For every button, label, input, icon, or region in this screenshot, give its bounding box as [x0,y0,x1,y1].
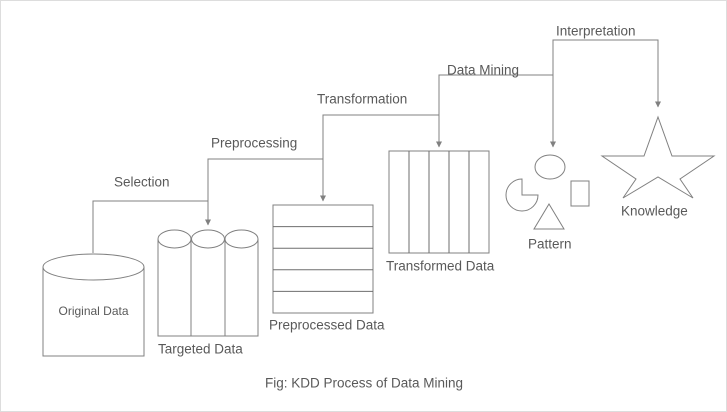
node-preprocessed-data: Preprocessed Data [269,205,385,333]
edge-transformation-label: Transformation [317,92,407,107]
edge-data-mining: Data Mining [439,63,553,147]
targeted-data-label: Targeted Data [158,342,243,357]
original-data-inner-label: Original Data [58,304,128,318]
targeted-data-cylinder-3-body [225,239,258,336]
pattern-rectangle-icon [571,181,589,206]
original-data-cylinder-top [43,254,144,280]
node-original-data: Original Data [43,254,144,356]
edge-data-mining-path [439,75,553,147]
pattern-label: Pattern [528,237,572,252]
preprocessed-data-box [273,205,373,313]
knowledge-star-icon [602,117,714,198]
targeted-data-cylinder-1-top [158,230,191,248]
transformed-data-box [389,151,489,253]
targeted-data-cylinder-3-top [225,230,258,248]
preprocessed-data-label: Preprocessed Data [269,318,385,333]
edge-preprocessing-label: Preprocessing [211,136,297,151]
targeted-data-cylinder-1-body [158,239,191,336]
kdd-diagram-canvas: Selection Preprocessing Transformation D… [1,1,727,412]
targeted-data-cylinder-2-body [191,239,225,336]
node-pattern: Pattern [506,155,589,252]
edge-data-mining-label: Data Mining [447,63,519,78]
node-knowledge: Knowledge [602,117,714,219]
edge-transformation: Transformation [317,92,439,159]
knowledge-label: Knowledge [621,204,688,219]
pattern-circle-icon [535,155,565,179]
edge-interpretation-path [553,40,658,107]
targeted-data-cylinder-2-top [192,230,225,248]
figure-caption: Fig: KDD Process of Data Mining [265,376,463,391]
edge-preprocessing: Preprocessing [208,136,323,201]
edge-preprocessing-path [208,159,323,201]
transformed-data-label: Transformed Data [386,259,495,274]
pattern-pie-wedge-icon [506,179,538,211]
edge-selection-label: Selection [114,175,170,190]
node-transformed-data: Transformed Data [386,151,495,274]
edge-interpretation-label: Interpretation [556,24,636,39]
pattern-triangle-icon [534,204,564,229]
kdd-process-figure: Selection Preprocessing Transformation D… [0,0,727,412]
node-targeted-data: Targeted Data [158,230,258,357]
edge-interpretation: Interpretation [553,24,658,107]
